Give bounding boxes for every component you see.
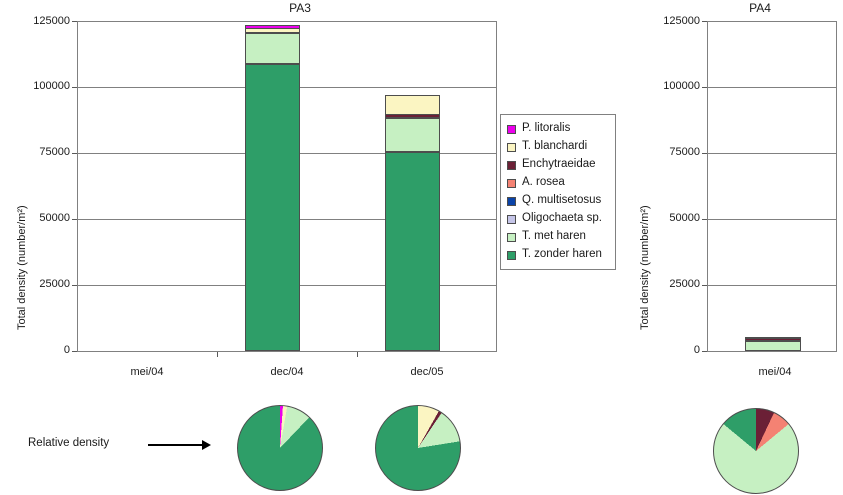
pa4-plot-area bbox=[707, 21, 837, 352]
bar-pa3-dec04[interactable] bbox=[245, 25, 300, 351]
pa4-gridline-50000 bbox=[708, 219, 836, 220]
pa3-xtick-mark-2 bbox=[357, 352, 358, 357]
bar-segment-t-met-haren[interactable] bbox=[385, 118, 440, 152]
bar-segment-t-zonder-haren[interactable] bbox=[745, 337, 801, 339]
pa4-gridline-25000 bbox=[708, 285, 836, 286]
legend-label: T. blanchardi bbox=[522, 141, 587, 153]
legend-swatch-icon bbox=[507, 197, 516, 206]
pa3-ytick-100000: 100000 bbox=[10, 80, 70, 92]
legend-swatch-icon bbox=[507, 161, 516, 170]
legend-label: Oligochaeta sp. bbox=[522, 213, 602, 225]
pa4-gridline-75000 bbox=[708, 153, 836, 154]
bar-pa3-dec05[interactable] bbox=[385, 95, 440, 351]
pie-pa3-dec05[interactable] bbox=[375, 405, 461, 491]
legend-swatch-icon bbox=[507, 125, 516, 134]
bar-segment-p-litoralis[interactable] bbox=[245, 25, 300, 29]
legend-swatch-icon bbox=[507, 251, 516, 260]
legend-item-q-multisetosus[interactable]: Q. multisetosus bbox=[507, 192, 609, 210]
legend-swatch-icon bbox=[507, 179, 516, 188]
legend-swatch-icon bbox=[507, 143, 516, 152]
legend-label: Q. multisetosus bbox=[522, 195, 601, 207]
pa3-ytick-50000: 50000 bbox=[10, 212, 70, 224]
pa3-title: PA3 bbox=[240, 1, 360, 15]
legend-item-t-met-haren[interactable]: T. met haren bbox=[507, 228, 609, 246]
pa3-ytick-125000: 125000 bbox=[10, 15, 70, 27]
pa4-ytick-75000: 75000 bbox=[640, 146, 700, 158]
bar-segment-t-blanchardi[interactable] bbox=[385, 95, 440, 115]
pa4-ytick-125000: 125000 bbox=[640, 15, 700, 27]
pa3-ytick-25000: 25000 bbox=[10, 278, 70, 290]
legend-label: T. zonder haren bbox=[522, 249, 602, 261]
pie-pa4-mei04[interactable] bbox=[713, 408, 799, 494]
legend-item-p-litoralis[interactable]: P. litoralis bbox=[507, 120, 609, 138]
pa4-ytick-100000: 100000 bbox=[640, 80, 700, 92]
pa3-ytick-0: 0 bbox=[10, 344, 70, 356]
pa4-title: PA4 bbox=[700, 1, 820, 15]
legend-item-t-zonder-haren[interactable]: T. zonder haren bbox=[507, 246, 609, 264]
bar-pa4-mei04[interactable] bbox=[745, 337, 801, 351]
legend-item-a-rosea[interactable]: A. rosea bbox=[507, 174, 609, 192]
legend-swatch-icon bbox=[507, 233, 516, 242]
pa3-xtick-label-dec05: dec/05 bbox=[367, 366, 487, 378]
bar-segment-t-met-haren[interactable] bbox=[245, 33, 300, 64]
pa4-xtick-label-mei04: mei/04 bbox=[715, 366, 835, 378]
right-arrow-head-icon bbox=[202, 440, 211, 450]
pa3-ytick-75000: 75000 bbox=[10, 146, 70, 158]
right-arrow-icon bbox=[148, 444, 204, 446]
legend-label: T. met haren bbox=[522, 231, 586, 243]
pa3-xtick-label-dec04: dec/04 bbox=[227, 366, 347, 378]
legend-item-enchytraeidae[interactable]: Enchytraeidae bbox=[507, 156, 609, 174]
figure-root: PA3 Total density (number/m²) 125000 100… bbox=[0, 0, 843, 495]
legend-item-t-blanchardi[interactable]: T. blanchardi bbox=[507, 138, 609, 156]
legend: P. litoralis T. blanchardi Enchytraeidae… bbox=[500, 114, 616, 270]
pa4-ytick-0: 0 bbox=[640, 344, 700, 356]
pa3-xtick-label-mei04: mei/04 bbox=[87, 366, 207, 378]
legend-swatch-icon bbox=[507, 215, 516, 224]
bar-segment-t-zonder-haren[interactable] bbox=[245, 64, 300, 351]
bar-segment-t-zonder-haren[interactable] bbox=[385, 152, 440, 351]
pie-pa3-dec04[interactable] bbox=[237, 405, 323, 491]
pa3-plot-area bbox=[77, 21, 497, 352]
relative-density-label: Relative density bbox=[28, 437, 109, 449]
legend-item-oligochaeta-sp[interactable]: Oligochaeta sp. bbox=[507, 210, 609, 228]
bar-segment-t-met-haren[interactable] bbox=[745, 341, 801, 351]
pa3-xtick-mark-1 bbox=[217, 352, 218, 357]
pa4-ytick-25000: 25000 bbox=[640, 278, 700, 290]
pa4-ytick-50000: 50000 bbox=[640, 212, 700, 224]
legend-label: A. rosea bbox=[522, 177, 565, 189]
pa4-gridline-100000 bbox=[708, 87, 836, 88]
legend-label: P. litoralis bbox=[522, 123, 570, 135]
legend-label: Enchytraeidae bbox=[522, 159, 596, 171]
